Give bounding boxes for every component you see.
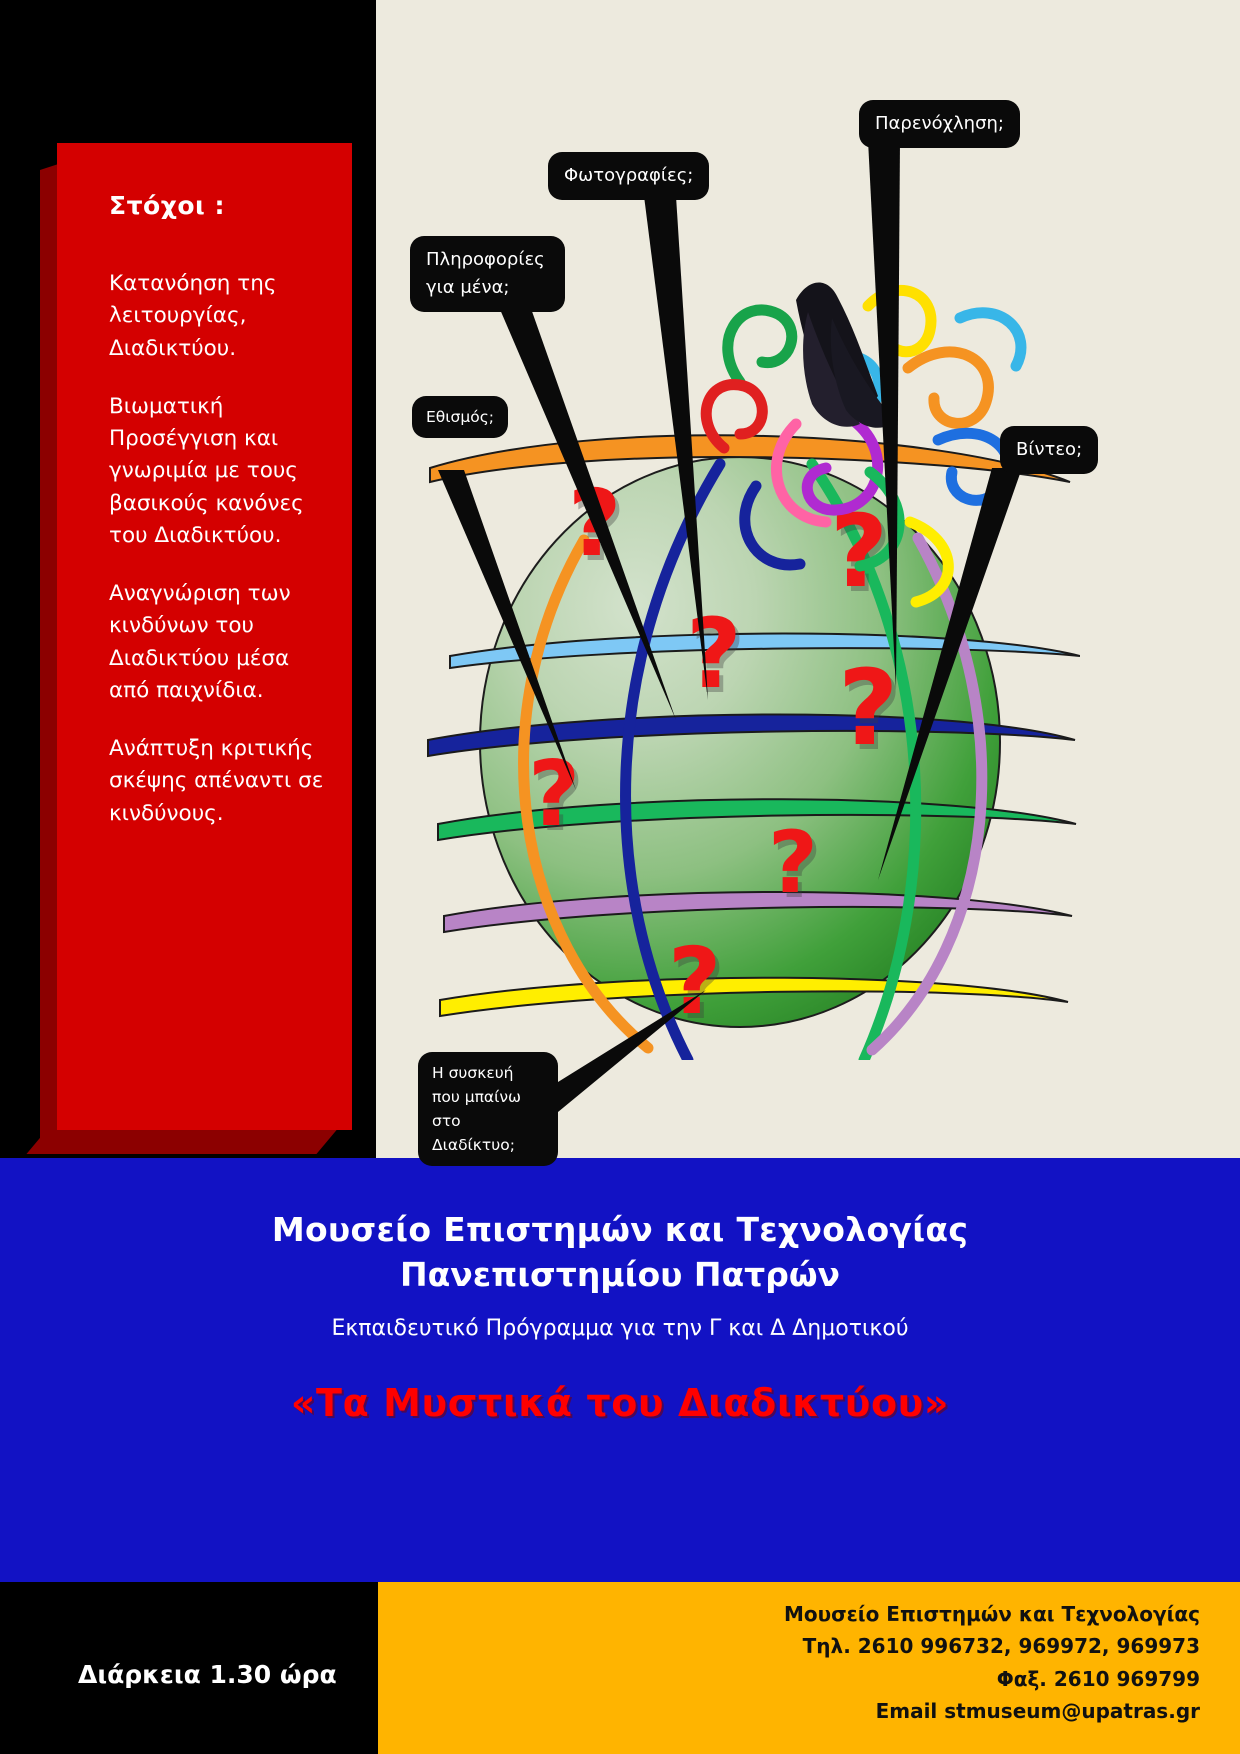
goal-item: Κατανόηση της λειτουργίας, Διαδικτύου. bbox=[109, 268, 326, 365]
program-description: Εκπαιδευτικό Πρόγραμμα για την Γ και Δ Δ… bbox=[0, 1316, 1240, 1341]
callout-video-text: Βίντεο; bbox=[1016, 439, 1082, 460]
tail-device bbox=[558, 990, 706, 1112]
tail-harassment bbox=[868, 140, 900, 690]
poster-root: ? ? ? ? ? ? ? bbox=[0, 0, 1240, 1754]
callout-addiction-text: Εθισμός; bbox=[426, 408, 494, 426]
bottom-strip: Διάρκεια 1.30 ώρα Μουσείο Επιστημών και … bbox=[0, 1582, 1240, 1754]
upper-stage: ? ? ? ? ? ? ? bbox=[0, 0, 1240, 1158]
goal-item: Αναγνώριση των κινδύνων του Διαδικτύου μ… bbox=[109, 578, 326, 707]
callout-video: Βίντεο; bbox=[1000, 426, 1098, 474]
footer-blue-band: Μουσείο Επιστημών και Τεχνολογίας Πανεπι… bbox=[0, 1158, 1240, 1582]
goals-panel: Στόχοι : Κατανόηση της λειτουργίας, Διαδ… bbox=[57, 143, 352, 1130]
organisation-line-1: Μουσείο Επιστημών και Τεχνολογίας bbox=[0, 1210, 1240, 1249]
contact-box: Μουσείο Επιστημών και Τεχνολογίας Τηλ. 2… bbox=[378, 1582, 1240, 1754]
callout-tails bbox=[376, 0, 1240, 1158]
callout-addiction: Εθισμός; bbox=[412, 396, 508, 438]
callout-harassment: Παρενόχληση; bbox=[859, 100, 1020, 148]
duration-label: Διάρκεια 1.30 ώρα bbox=[78, 1660, 337, 1689]
tail-addiction bbox=[438, 470, 576, 790]
callout-harassment-text: Παρενόχληση; bbox=[875, 113, 1004, 134]
tail-video bbox=[878, 468, 1022, 880]
callout-my-info: Πληροφορίες για μένα; bbox=[410, 236, 565, 312]
goal-item: Ανάπτυξη κριτικής σκέψης απέναντι σε κιν… bbox=[109, 733, 326, 830]
callout-my-info-text: Πληροφορίες για μένα; bbox=[426, 249, 545, 298]
callout-photos: Φωτογραφίες; bbox=[548, 152, 709, 200]
goals-title: Στόχοι : bbox=[109, 191, 326, 220]
goal-item: Βιωματική Προσέγγιση και γνωριμία με του… bbox=[109, 391, 326, 552]
contact-phone: Τηλ. 2610 996732, 969972, 969973 bbox=[378, 1630, 1200, 1662]
contact-email: Email stmuseum@upatras.gr bbox=[378, 1695, 1200, 1727]
program-title: «Τα Μυστικά του Διαδικτύου» bbox=[0, 1381, 1240, 1425]
callout-photos-text: Φωτογραφίες; bbox=[564, 165, 693, 186]
contact-fax: Φαξ. 2610 969799 bbox=[378, 1663, 1200, 1695]
organisation-line-2: Πανεπιστημίου Πατρών bbox=[0, 1255, 1240, 1294]
tail-photos bbox=[644, 196, 708, 700]
callout-device-text: Η συσκευή που μπαίνω στο Διαδίκτυο; bbox=[432, 1064, 521, 1154]
contact-museum: Μουσείο Επιστημών και Τεχνολογίας bbox=[378, 1598, 1200, 1630]
callout-device: Η συσκευή που μπαίνω στο Διαδίκτυο; bbox=[418, 1052, 558, 1166]
